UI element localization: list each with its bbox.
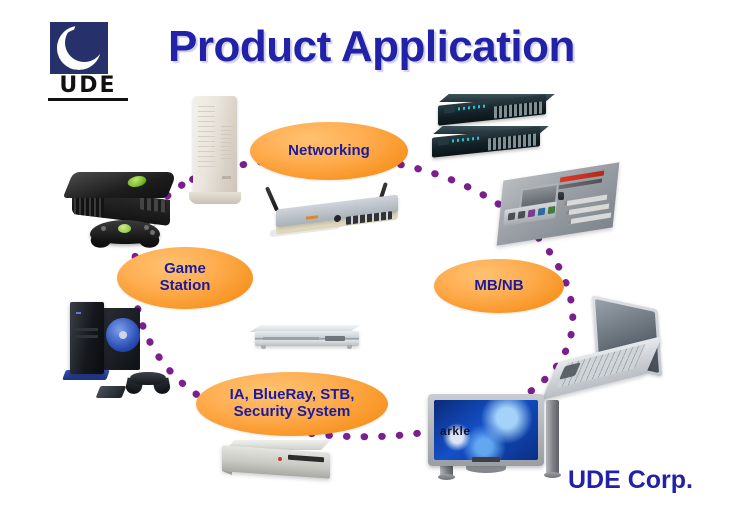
speaker-column — [546, 400, 559, 474]
set-top-box-image — [222, 440, 340, 484]
controller-button — [144, 225, 149, 230]
speaker-base — [438, 474, 455, 480]
io-port — [548, 206, 556, 214]
wireless-router-image — [262, 186, 412, 240]
console-strip — [74, 335, 98, 338]
console-power-led — [76, 312, 81, 314]
switch-unit-bottom — [432, 126, 544, 152]
flat-panel-tv-image: arkle — [404, 394, 580, 492]
speaker-base — [544, 472, 561, 478]
dotted-connector-ring — [0, 0, 756, 531]
bubble-line: Security System — [234, 403, 351, 420]
bubble-ia-blueray-stb-security[interactable]: IA, BlueRay, STB, Security System — [196, 372, 388, 436]
io-port — [518, 211, 526, 219]
xbox-console-image — [62, 168, 190, 250]
dvd-tray — [263, 337, 319, 340]
bubble-line: IA, BlueRay, STB, — [230, 386, 355, 403]
game-controller — [124, 372, 172, 394]
memory-card — [96, 386, 127, 398]
motherboard-image — [498, 162, 620, 248]
bubble-networking-label: Networking — [288, 143, 370, 160]
bubble-game-station-label: Game Station — [160, 261, 211, 295]
dvd-display — [325, 336, 345, 341]
dvd-foot — [261, 345, 266, 349]
bubble-ia-label: IA, BlueRay, STB, Security System — [230, 387, 355, 421]
console-top — [63, 172, 178, 198]
io-port — [538, 208, 546, 216]
controller-logo-icon — [118, 224, 131, 233]
console-strip — [74, 328, 98, 331]
cable-modem-image — [185, 96, 247, 206]
io-port — [508, 212, 516, 220]
controller-shell — [130, 372, 166, 385]
tv-screen-text: arkle — [440, 424, 471, 438]
company-footer: UDE Corp. — [568, 466, 693, 495]
slide-canvas: UDE Product Application — [0, 0, 756, 531]
modem-led — [222, 176, 231, 179]
stb-power-led — [278, 457, 282, 461]
bubble-mb-nb-label: MB/NB — [474, 278, 523, 295]
io-port — [528, 209, 536, 217]
modem-stand — [189, 192, 241, 204]
tv-brand-bar — [472, 457, 500, 462]
mobo-capacitor — [558, 192, 564, 200]
modem-vents — [198, 106, 215, 170]
bubble-line: Game — [164, 260, 206, 277]
controller-dpad — [101, 226, 106, 231]
bubble-networking[interactable]: Networking — [250, 122, 408, 180]
network-switches-image — [432, 94, 560, 172]
console-tower — [70, 302, 104, 374]
controller-button — [150, 230, 155, 235]
router-antenna-left — [265, 186, 279, 211]
tv-bezel: arkle — [428, 394, 544, 466]
dvd-foot — [347, 345, 352, 349]
switch-unit-top — [438, 94, 550, 120]
game-controller — [90, 216, 160, 248]
tv-screen: arkle — [434, 400, 538, 460]
game-disc — [106, 318, 140, 352]
bubble-mb-nb[interactable]: MB/NB — [434, 259, 564, 313]
bubble-game-station[interactable]: Game Station — [117, 247, 253, 309]
laptop-image — [548, 303, 668, 401]
switch-panel — [438, 136, 449, 145]
stb-front — [222, 445, 330, 479]
bubble-line: Station — [160, 277, 211, 294]
switch-panel — [444, 104, 455, 113]
dvd-player-image — [255, 325, 361, 353]
modem-vents-secondary — [221, 126, 233, 160]
playstation-console-image — [62, 300, 190, 400]
